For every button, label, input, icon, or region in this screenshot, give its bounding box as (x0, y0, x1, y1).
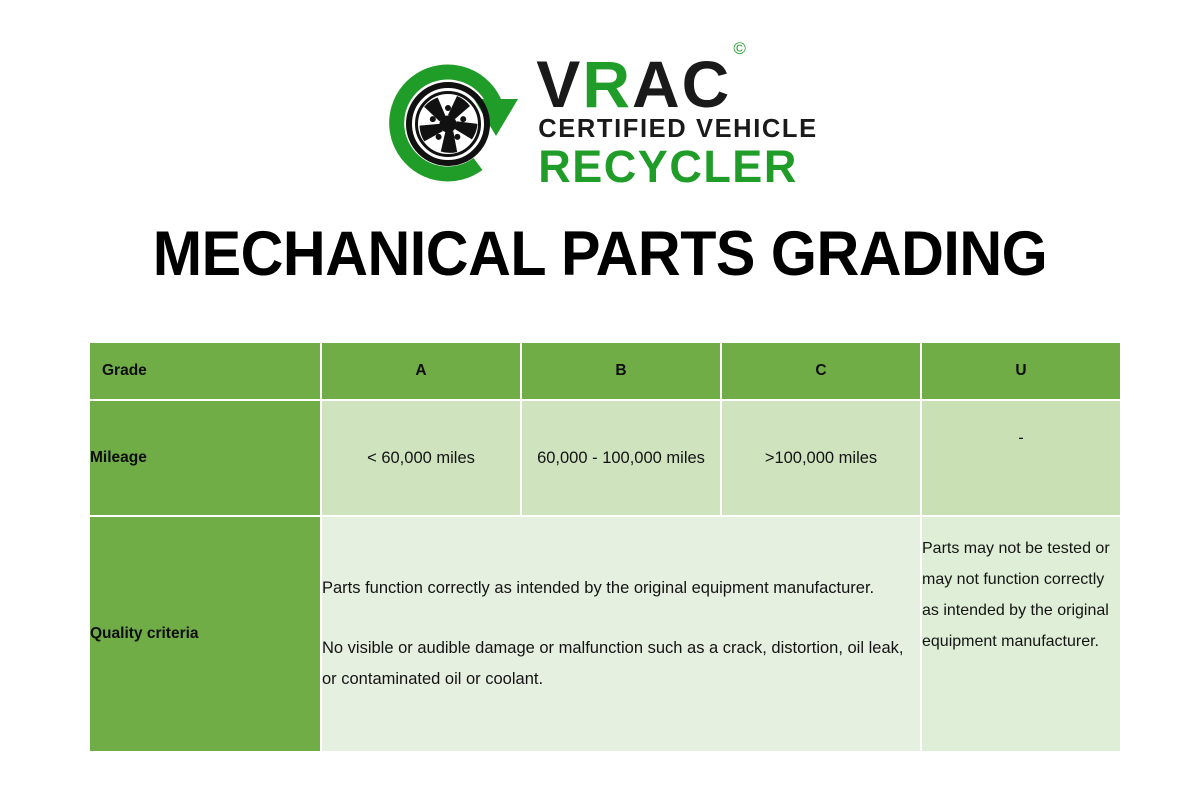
brand-wordmark-vrac: VRAC© (536, 54, 744, 114)
recycling-wheel-icon (382, 52, 530, 192)
paragraph-spacer (322, 604, 920, 633)
table-header-grade-c: C (722, 343, 920, 399)
table-header-grade-b: B (522, 343, 720, 399)
table-header-row: Grade A B C U (90, 343, 1120, 399)
row-label-mileage: Mileage (90, 401, 320, 515)
table-row-quality-criteria: Quality criteria Parts function correctl… (90, 517, 1120, 751)
wordmark-letters-ac: AC (632, 47, 731, 121)
cell-mileage-u: - (922, 401, 1120, 515)
brand-logo-inner: VRAC© CERTIFIED VEHICLE RECYCLER (382, 52, 817, 192)
row-label-quality-criteria: Quality criteria (90, 517, 320, 751)
copyright-icon: © (733, 39, 746, 58)
cell-mileage-b: 60,000 - 100,000 miles (522, 401, 720, 515)
quality-criteria-paragraph-2: No visible or audible damage or malfunct… (322, 633, 920, 695)
cell-quality-criteria-u: Parts may not be tested or may not funct… (922, 517, 1120, 751)
table-header-grade-u: U (922, 343, 1120, 399)
quality-criteria-paragraph-1: Parts function correctly as intended by … (322, 573, 920, 604)
wordmark-letter-v: V (536, 47, 582, 121)
table-row-mileage: Mileage < 60,000 miles 60,000 - 100,000 … (90, 401, 1120, 515)
table-header-grade: Grade (90, 343, 320, 399)
cell-mileage-c: >100,000 miles (722, 401, 920, 515)
cell-quality-criteria-abc: Parts function correctly as intended by … (322, 517, 920, 751)
brand-logo: VRAC© CERTIFIED VEHICLE RECYCLER (0, 52, 1200, 202)
brand-wordmark: VRAC© CERTIFIED VEHICLE RECYCLER (536, 52, 817, 190)
brand-tagline-recycler: RECYCLER (538, 144, 798, 190)
wordmark-letter-r: R (582, 47, 632, 121)
cell-mileage-a: < 60,000 miles (322, 401, 520, 515)
page-title: MECHANICAL PARTS GRADING (36, 218, 1164, 290)
table-header-grade-a: A (322, 343, 520, 399)
mechanical-parts-grading-table: Grade A B C U Mileage < 60,000 miles 60,… (88, 341, 1122, 753)
